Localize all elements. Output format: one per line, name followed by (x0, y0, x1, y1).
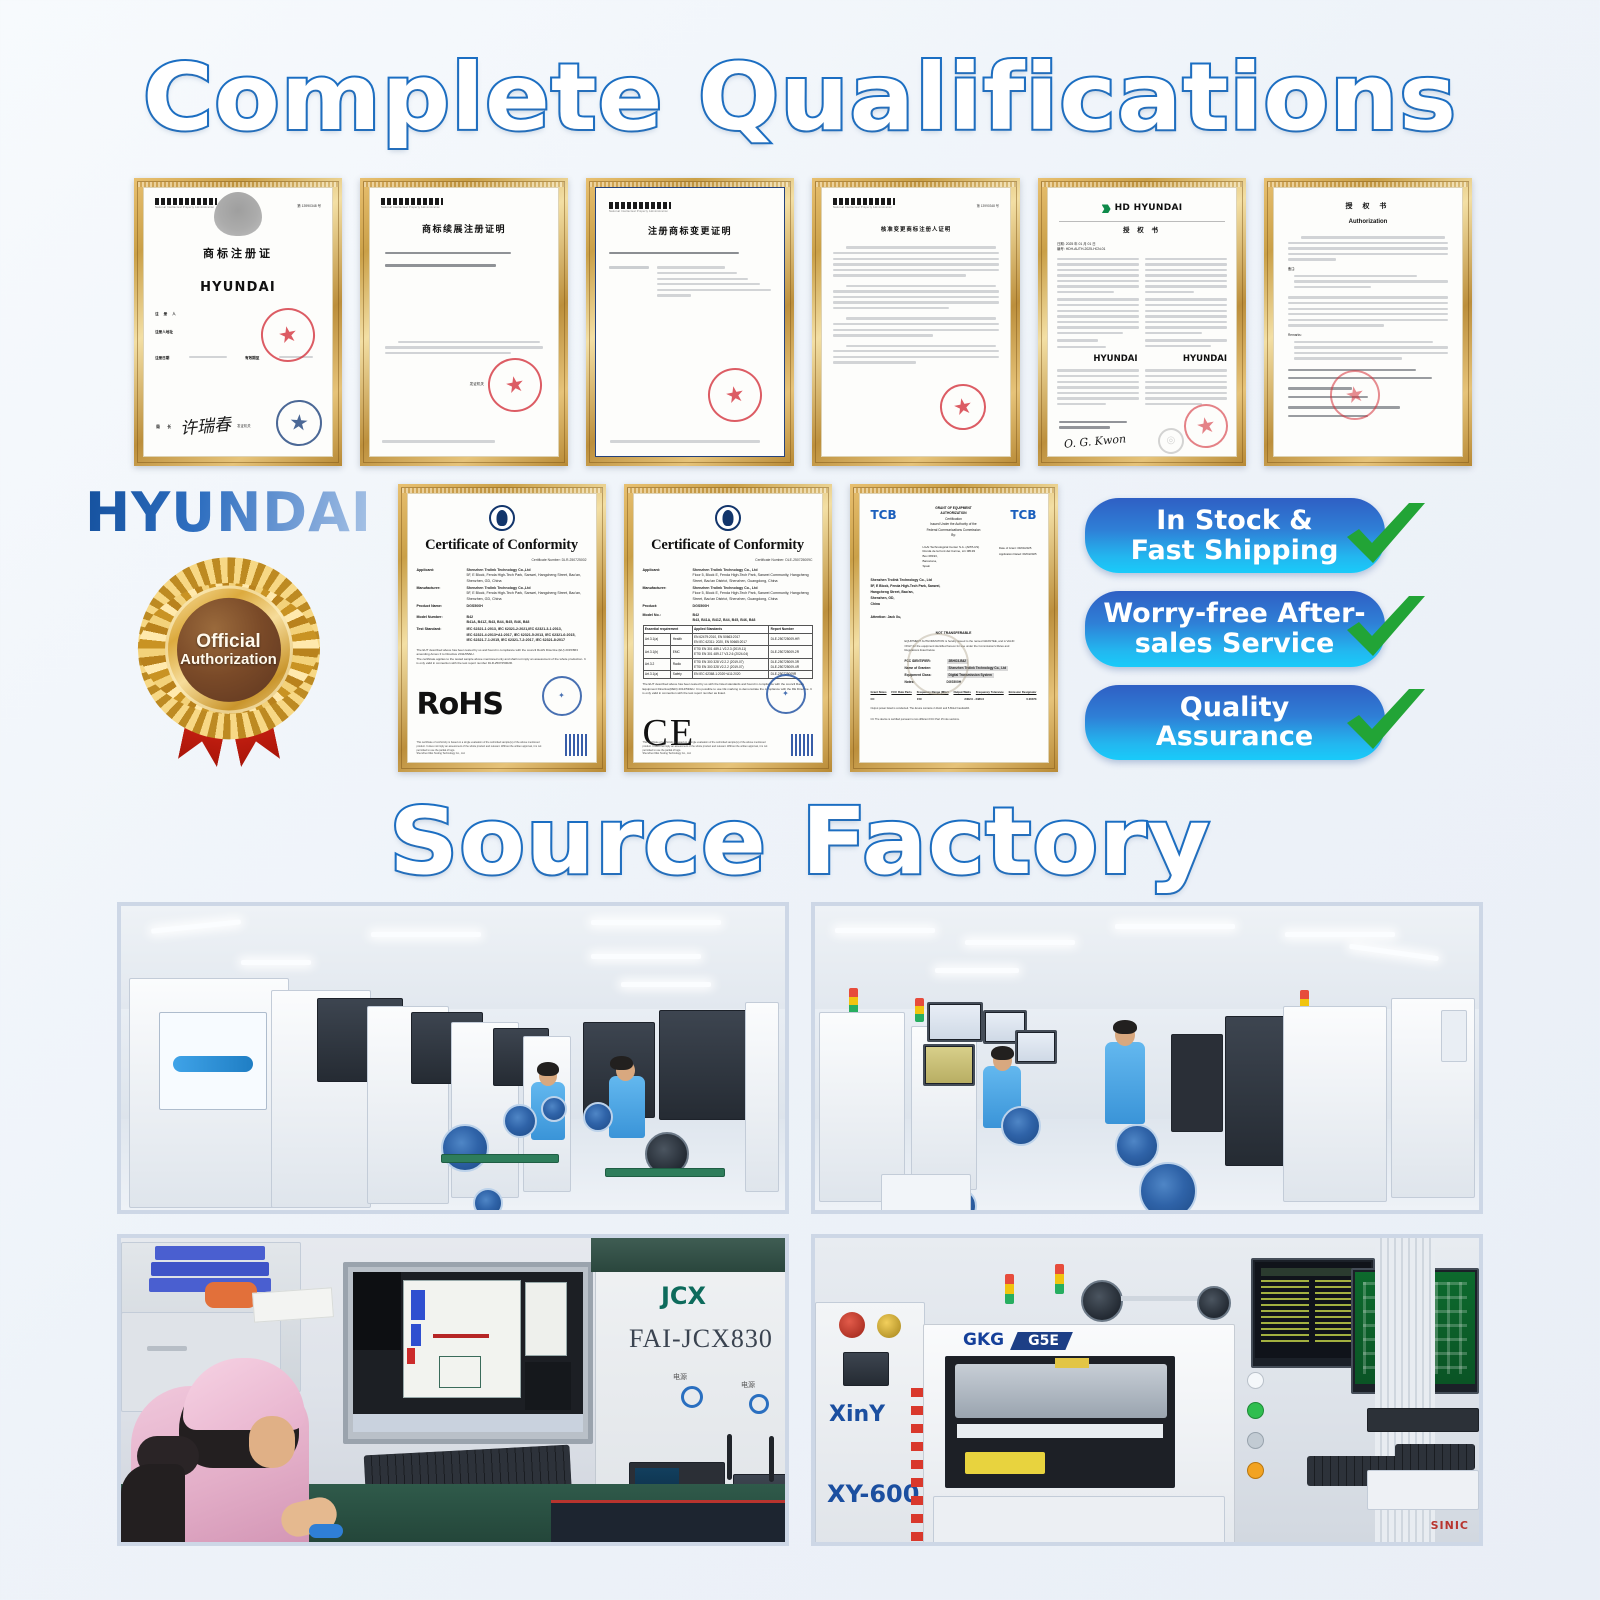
testing-lab-logo-icon (715, 505, 741, 531)
fcc-seal-icon (907, 633, 969, 695)
feature-line-1: In Stock & (1156, 505, 1312, 536)
field-label: Test Standard: (417, 627, 463, 643)
certificate-title: 注册商标变更证明 (609, 226, 771, 240)
grant-title-4: Issued Under the Authority of the (927, 522, 981, 527)
field-value: B42 (693, 613, 700, 617)
field-label: 注册日期 (155, 356, 185, 362)
qr-code-icon (565, 734, 587, 756)
page-title-source-factory: Source Factory (0, 796, 1600, 888)
field-value: Shenzhen Trolink Technology Co., Ltd (693, 586, 758, 590)
power-button-icon[interactable] (681, 1386, 703, 1408)
badge-text: Official Authorization (177, 598, 281, 702)
authority-subtitle: National Intellectual Property Administr… (609, 210, 771, 214)
red-round-seal-icon: ★ (703, 363, 766, 426)
certificate-title: Certificate of Conformity (643, 534, 813, 556)
field-label: 注册人地址 (155, 330, 185, 347)
port-label-2: 电源 (741, 1380, 755, 1390)
factory-photo-smt-workshop[interactable] (811, 902, 1483, 1214)
table-header: FCC Rule Parts (891, 690, 911, 694)
grant-footer-2: CC The device is certified pursuant to t… (871, 718, 1037, 722)
not-transferable-note: NOT TRANSFERABLE (871, 631, 1037, 636)
field-value: DGS500H (467, 604, 483, 608)
table-row: Art.3.1(b) EMC ETSI EN 301 489-1 V2.2.3 … (643, 646, 812, 659)
rack-brand-label: SINIC (1431, 1519, 1469, 1532)
field-value: Shenzhen Trolink Technology Co.,Ltd (467, 568, 531, 572)
field-value: Shenzhen Trolink Technology Co., Ltd (693, 568, 758, 572)
field-value: B42 (467, 615, 474, 619)
machine-brand-logo: JCX (661, 1284, 706, 1308)
cert-number: DLE-250725009C (785, 558, 812, 562)
date-of-grant: 09/04/2025 (1017, 546, 1031, 550)
field-value-2: 5F, E Block, Fenda High-Tech Park, Sanwe… (467, 573, 587, 584)
feature-in-stock-fast-shipping[interactable]: In Stock & Fast Shipping (1085, 498, 1532, 573)
authority-bar-icon (381, 198, 443, 205)
table-row: Art.3.1(a) Health EN 62479:2010, EN 5066… (643, 633, 812, 646)
tcb-mark-left: TCB (871, 506, 897, 525)
field-label: Manufacturer: (417, 586, 463, 602)
certificate-hd-hyundai-authorization[interactable]: HD HYUNDAI 授 权 书 日期: 2025 年 01 月 01 日 编号… (1038, 178, 1246, 466)
remarks-label-en: Remarks: (1288, 333, 1448, 338)
badge-line-1: Official (196, 631, 260, 652)
table-header: Applied Standards (692, 626, 769, 634)
national-emblem-icon (214, 192, 262, 236)
doc-no-label: 编号: (1057, 247, 1065, 251)
table-header: Essential requirement (643, 626, 692, 634)
field-value-2: B43, B41A, B41Z, B44, B45, B46, B48 (693, 618, 756, 623)
hd-hyundai-logo: HD HYUNDAI (1057, 198, 1227, 216)
field-label: 局 长 (156, 424, 174, 430)
authority-bar-icon (155, 198, 217, 205)
certificate-title: Certificate of Conformity (417, 534, 587, 556)
hyundai-wordmark: HYUNDAI (85, 486, 372, 540)
page-title-qualifications: Complete Qualifications (0, 0, 1600, 144)
application-dated: 09/04/2025 (1023, 552, 1037, 556)
certificate-title: 商标注册证 (155, 245, 321, 262)
seal-caption: 发证机关 (237, 424, 251, 429)
power-button-icon[interactable] (749, 1394, 769, 1414)
signature: O. G. Kwon (1063, 430, 1126, 452)
trademark-mark: HYUNDAI (155, 278, 321, 298)
authority-bar-icon (833, 198, 895, 205)
factory-photo-solder-paste-printer[interactable]: XinY XY-600 GKG G5E (811, 1234, 1483, 1546)
field-label: Model No.: (643, 613, 689, 624)
grant-footer-1: Output power listed is conducted. The de… (871, 707, 1037, 711)
certificate-rohs[interactable]: Certificate of Conformity Certificate Nu… (398, 484, 606, 772)
certificate-title: 商标续展注册证明 (381, 224, 547, 238)
registration-number: 第 13990348 号 (977, 198, 999, 209)
field-label: 有效期至 (245, 356, 275, 362)
factory-photo-grid: JCX FAI-JCX830 电源 电源 XinY XY-600 (0, 902, 1600, 1546)
status-lamp-white-icon (1247, 1372, 1264, 1389)
date-of-grant-label: Date of Grant: (999, 546, 1017, 550)
official-authorization-badge: Official Authorization (131, 554, 327, 750)
factory-photo-flying-probe-station[interactable]: JCX FAI-JCX830 电源 电源 (117, 1234, 789, 1546)
qr-code-icon (791, 734, 813, 756)
certificate-title-cn: 授 权 书 (1288, 202, 1448, 213)
field-label: Product: (643, 604, 689, 610)
field-value-2: IEC 62321-1:2013, IEC 62321-2:2021,IEC 6… (467, 627, 576, 643)
feature-pill[interactable]: In Stock & Fast Shipping (1085, 498, 1385, 573)
feature-badge-list: In Stock & Fast Shipping Worry-free Afte… (1067, 484, 1532, 760)
table-header: Report Number (769, 626, 812, 634)
feature-line-1: Quality (1180, 692, 1289, 723)
field-label: Applicant: (643, 568, 689, 584)
doc-no-value: HDH-AUTH-2025-HCN-01 (1066, 247, 1106, 251)
certificate-trademark-registration[interactable]: National Intellectual Property Administr… (134, 178, 342, 466)
field-value-2: B41A, B41Z, B43, B44, B45, B46, B48 (467, 620, 530, 625)
lab-round-seal-icon: ✦ (766, 674, 806, 714)
field-value-2: 5F, E Block, Fenda High-Tech Park, Sanwe… (467, 591, 587, 602)
table-header: Grant Notes (871, 690, 887, 694)
feature-pill[interactable]: Worry-free After- sales Service (1085, 591, 1385, 666)
certificate-row-top: National Intellectual Property Administr… (0, 178, 1600, 466)
certificate-authorization-letter[interactable]: 授 权 书 Authorization 备注: Remarks: (1264, 178, 1472, 466)
certificate-ce[interactable]: Certificate of Conformity Certificate Nu… (624, 484, 832, 772)
feature-line-2: sales Service (1135, 628, 1335, 659)
green-check-icon (1343, 687, 1429, 757)
authority-subtitle: National Intellectual Property Administr… (833, 206, 895, 210)
machine-left-model-label: XY-600 (827, 1480, 919, 1508)
red-round-seal-icon: ★ (936, 380, 990, 434)
field-value-2: Floor 5, Block E, Fenda High-Tech Park, … (693, 591, 813, 602)
issuer-label: 发证机关 (470, 382, 484, 388)
certificate-footer: This certificate of conformity is based … (643, 741, 772, 756)
certificate-trademark-change-approval[interactable]: National Intellectual Property Administr… (812, 178, 1020, 466)
certificate-body: The EUT described above has been tested … (417, 648, 587, 666)
field-label: Model Number: (417, 615, 463, 626)
authority-subtitle: National Intellectual Property Administr… (381, 206, 547, 210)
table-header: Frequency Tolerance (976, 690, 1004, 694)
machine-submodel-label: G5E (1010, 1332, 1073, 1350)
feature-pill[interactable]: Quality Assurance (1085, 685, 1385, 760)
grant-title-6: By: (927, 533, 981, 538)
applicant-block: Shenzhen Trolink Technology Co., Ltd 5F,… (871, 577, 1037, 608)
certificate-title: 核准变更商标注册人证明 (833, 226, 999, 234)
table-row: Art.3.2 Radio ETSI EN 300 328 V2.2.2 (20… (643, 658, 812, 671)
authority-bar-icon (609, 202, 671, 209)
field-value: DGS500H (693, 604, 709, 608)
port-label-1: 电源 (673, 1372, 687, 1382)
lab-block: LGAI Technological Center S.A. (APPLUS) … (923, 545, 980, 569)
table-header: Output Watts (953, 690, 970, 694)
brand-mark: HYUNDAI (1057, 353, 1141, 366)
certificate-trademark-change[interactable]: National Intellectual Property Administr… (586, 178, 794, 466)
brand-block: HYUNDAI Official Authorization (69, 484, 389, 750)
lab-round-seal-icon: ✦ (542, 676, 582, 716)
cert-number: DLR-250725002 (562, 558, 587, 562)
field-label: Product Name: (417, 604, 463, 610)
date-value: 2025 年 01 月 01 日 (1066, 242, 1096, 246)
registration-number: 第 13990348 号 (297, 198, 321, 209)
machine-model-label: FAI-JCX830 (629, 1324, 773, 1354)
status-lamp-green-icon (1247, 1402, 1264, 1419)
standards-table: Essential requirement Applied Standards … (643, 625, 813, 679)
certificate-footer: This certificate of conformity is based … (417, 741, 546, 756)
green-check-icon (1343, 594, 1429, 664)
authority-subtitle: National Intellectual Property Administr… (155, 206, 217, 210)
field-label: 注 册 人 (155, 312, 185, 323)
field-label: Manufacturer: (643, 586, 689, 602)
feature-quality-assurance[interactable]: Quality Assurance (1085, 685, 1532, 760)
certificate-trademark-renewal[interactable]: National Intellectual Property Administr… (360, 178, 568, 466)
feature-line-2: Fast Shipping (1131, 535, 1339, 566)
status-lamp-grey-icon (1247, 1432, 1264, 1449)
signature: 许瑞春 (179, 411, 232, 442)
machine-left-brand-label: XinY (829, 1402, 885, 1427)
testing-lab-logo-icon (489, 505, 515, 531)
table-row: CC 15C 2402.0 - 2480.0 0.00373 (871, 697, 1037, 701)
field-value-2: Floor 5, Block E, Fenda High-Tech Park, … (693, 573, 813, 584)
tcb-mark-right: TCB (1010, 506, 1036, 525)
factory-photo-smt-line-overview[interactable] (117, 902, 789, 1214)
certificate-title-en: Authorization (1288, 218, 1448, 227)
brand-mark: HYUNDAI (1147, 353, 1228, 366)
application-dated-label: Application Dated: (999, 552, 1022, 556)
attention-line: Attention: Jack Xu, (871, 615, 1037, 620)
field-value: Shenzhen Trolink Technology Co.,Ltd (467, 586, 531, 590)
feature-after-sales-service[interactable]: Worry-free After- sales Service (1085, 591, 1532, 666)
cert-number-label: Certificate Number: (755, 558, 784, 562)
green-check-icon (1343, 501, 1429, 571)
corporate-seal-icon: ◎ (1156, 426, 1186, 456)
feature-line-2: Assurance (1156, 721, 1313, 752)
field-label: Applicant: (417, 568, 463, 584)
machine-brand-label: GKG (963, 1330, 1004, 1350)
date-label: 日期: (1057, 242, 1065, 246)
feature-line-1: Worry-free After- (1103, 598, 1365, 629)
table-header: Emission Designator (1009, 690, 1037, 694)
red-round-seal-icon: ★ (483, 353, 546, 416)
status-lamp-amber-icon (1247, 1462, 1264, 1479)
hd-hyundai-glyph-icon (1102, 204, 1111, 213)
certificate-fcc-tcb[interactable]: TCB GRANT OF EQUIPMENT AUTHORIZATION Cer… (850, 484, 1058, 772)
certificate-title: 授 权 书 (1057, 226, 1227, 236)
blue-office-seal-icon: ★ (274, 398, 323, 447)
cert-number-label: Certificate Number: (531, 558, 560, 562)
remarks-label-cn: 备注: (1288, 267, 1448, 272)
badge-line-2: Authorization (180, 652, 277, 669)
certificate-row-bottom: Certificate of Conformity Certificate Nu… (389, 484, 1067, 772)
